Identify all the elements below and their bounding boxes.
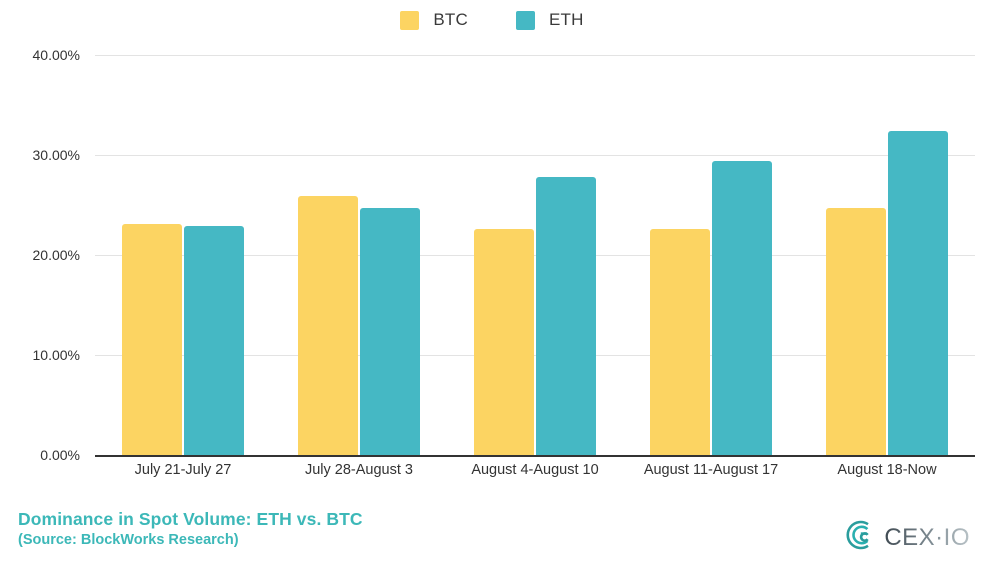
x-axis-tick-label: July 21-July 27 (95, 462, 271, 478)
y-axis-tick-label: 0.00% (0, 447, 80, 463)
x-axis-baseline (95, 455, 975, 457)
cex-io-wordmark: CEX·IO (884, 524, 970, 552)
legend-item-btc: BTC (400, 10, 468, 30)
bar-eth[interactable] (888, 131, 948, 455)
x-axis-tick-label: August 18-Now (799, 462, 975, 478)
legend-swatch-icon-eth (516, 11, 535, 30)
bar-btc[interactable] (298, 196, 358, 455)
y-axis-tick-label: 40.00% (0, 47, 80, 63)
bar-group (826, 55, 948, 455)
bar-group (298, 55, 420, 455)
legend-swatch-icon-btc (400, 11, 419, 30)
chart-legend: BTC ETH (0, 8, 984, 32)
cex-io-circle-icon (843, 518, 877, 557)
legend-label-btc: BTC (433, 10, 468, 30)
y-axis-tick-label: 10.00% (0, 347, 80, 363)
bar-eth[interactable] (536, 177, 596, 455)
plot-area (95, 55, 975, 455)
x-axis-tick-label: July 28-August 3 (271, 462, 447, 478)
y-axis-tick-label: 30.00% (0, 147, 80, 163)
caption-source: (Source: BlockWorks Research) (18, 530, 363, 550)
cex-io-logo: CEX·IO (843, 518, 970, 557)
chart-caption: Dominance in Spot Volume: ETH vs. BTC (S… (18, 508, 363, 550)
x-axis-tick-label: August 4-August 10 (447, 462, 623, 478)
legend-label-eth: ETH (549, 10, 584, 30)
bar-btc[interactable] (122, 224, 182, 455)
bar-eth[interactable] (712, 161, 772, 455)
bar-group (122, 55, 244, 455)
bar-btc[interactable] (826, 208, 886, 455)
bar-btc[interactable] (650, 229, 710, 455)
bar-group (474, 55, 596, 455)
y-axis-tick-label: 20.00% (0, 247, 80, 263)
bar-eth[interactable] (360, 208, 420, 455)
legend-item-eth: ETH (516, 10, 584, 30)
bar-eth[interactable] (184, 226, 244, 455)
bar-btc[interactable] (474, 229, 534, 455)
bar-group (650, 55, 772, 455)
caption-title: Dominance in Spot Volume: ETH vs. BTC (18, 508, 363, 530)
x-axis-tick-label: August 11-August 17 (623, 462, 799, 478)
